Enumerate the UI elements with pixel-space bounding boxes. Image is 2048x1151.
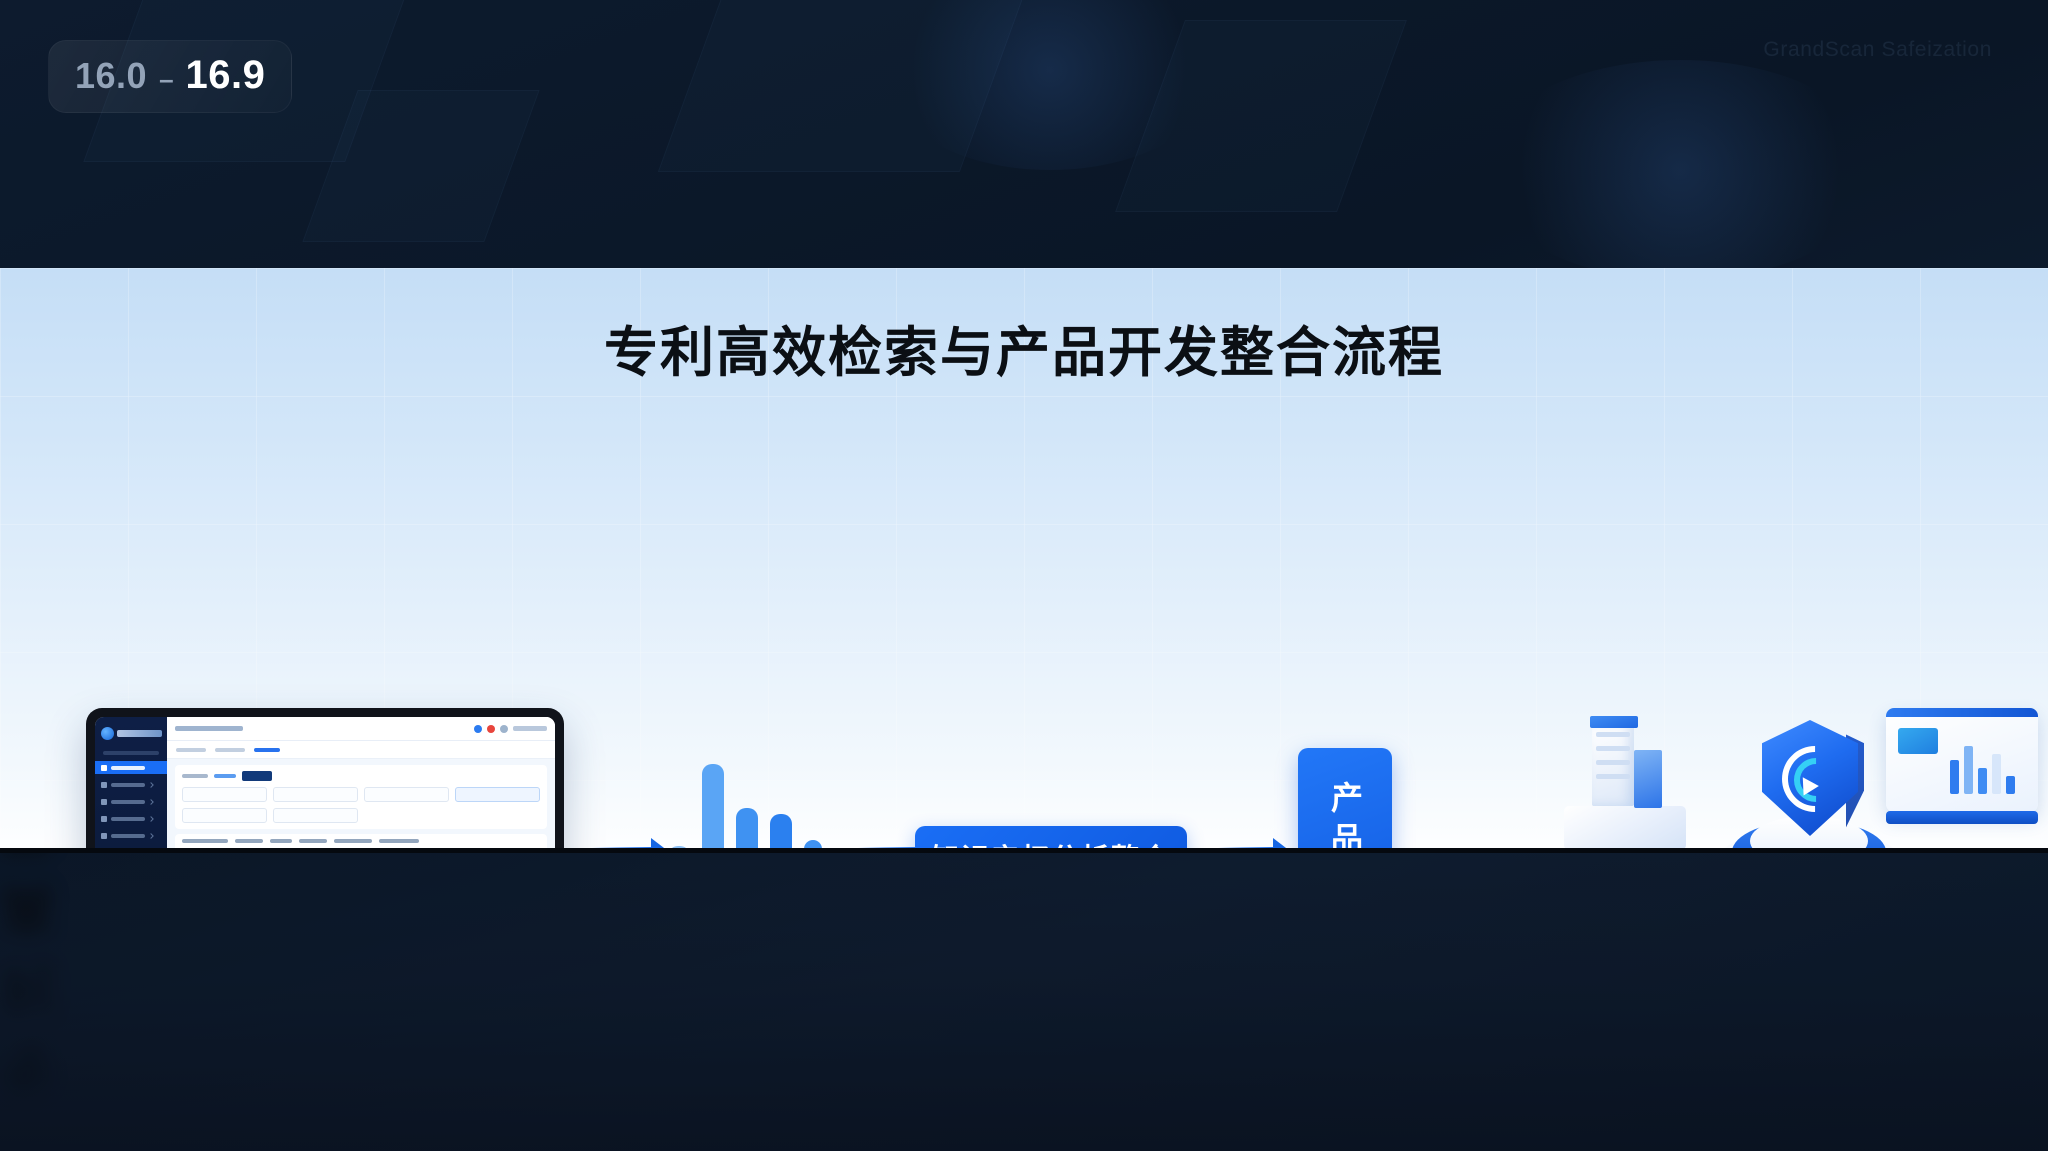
- column-header: [299, 839, 327, 843]
- chart-bar: [804, 840, 822, 848]
- reflection-gradient-veil: [0, 848, 2048, 1151]
- analysis-label: 知识产权分析整合: [931, 837, 1171, 848]
- filter-input[interactable]: [182, 808, 267, 823]
- arrow-head-icon: [651, 838, 668, 848]
- screen-bar: [1992, 754, 2001, 794]
- filter-group-label: [182, 774, 208, 778]
- avatar[interactable]: [500, 725, 508, 733]
- filter-link[interactable]: [214, 774, 236, 778]
- analytics-screen-icon: [1886, 708, 2038, 812]
- sidebar-item[interactable]: [95, 812, 167, 825]
- column-header: [334, 839, 372, 843]
- filter-input[interactable]: [364, 787, 449, 802]
- column-header: [379, 839, 419, 843]
- pedestal-building: [1564, 806, 1686, 848]
- dashboard-breadcrumb-tabs[interactable]: [167, 741, 555, 759]
- bar-chart: [668, 748, 838, 848]
- chevron-right-icon: [148, 816, 154, 822]
- tablet-screen: [95, 717, 555, 848]
- sidebar-item-label: [111, 766, 145, 770]
- column-header: [235, 839, 263, 843]
- column-header: [182, 839, 228, 843]
- panel-reflection: 专利高效检索与产品开发整合流程: [0, 848, 2048, 1151]
- filter-input[interactable]: [182, 787, 267, 802]
- dashboard-page-title: [175, 726, 243, 731]
- chevron-right-icon: [148, 782, 154, 788]
- version-new-label: 16.9: [186, 53, 266, 98]
- reflection-edge-line: [0, 848, 2048, 853]
- primary-action-button[interactable]: [242, 771, 272, 781]
- screen-card: [1898, 728, 1938, 754]
- product-development-box[interactable]: 产品开发: [1298, 748, 1392, 848]
- logo-wordmark: [117, 730, 162, 737]
- data-table: [175, 834, 547, 848]
- header-glow: [1480, 60, 1880, 280]
- flow-arrow-1: [592, 838, 668, 848]
- filter-input[interactable]: [273, 787, 358, 802]
- tablet-device-mockup: [86, 708, 564, 848]
- tab-active[interactable]: [254, 748, 280, 752]
- content-panel: 专利高效检索与产品开发整合流程: [0, 268, 2048, 848]
- search-button[interactable]: [455, 787, 540, 802]
- version-old-label: 16.0: [75, 55, 147, 97]
- pedestal-top: [1564, 806, 1686, 848]
- sidebar-item[interactable]: [95, 795, 167, 808]
- sidebar-item[interactable]: [95, 778, 167, 791]
- filter-fields-row: [182, 787, 540, 802]
- sidebar-section-label: [103, 751, 159, 755]
- sidebar-item-active[interactable]: [95, 761, 167, 774]
- version-badge: 16.0 – 16.9: [48, 40, 292, 113]
- chart-bar: [736, 808, 758, 848]
- sidebar-item-label: [111, 783, 145, 787]
- column-header: [270, 839, 292, 843]
- building-annex-icon: [1634, 750, 1662, 808]
- chart-bar: [770, 814, 792, 848]
- sidebar-item-icon: [101, 833, 107, 839]
- dashboard-logo: [95, 723, 167, 746]
- chart-bar: [702, 764, 724, 848]
- screen-bar: [2006, 776, 2015, 794]
- sidebar-item-icon: [101, 816, 107, 822]
- chevron-right-icon: [148, 799, 154, 805]
- dashboard-main: [167, 717, 555, 848]
- analysis-label-box[interactable]: 知识产权分析整合: [915, 826, 1187, 848]
- notification-icon[interactable]: [474, 725, 482, 733]
- sidebar-item[interactable]: [95, 829, 167, 842]
- filter-card: [175, 765, 547, 829]
- sidebar-item-icon: [101, 765, 107, 771]
- dashboard-topbar: [167, 717, 555, 741]
- dashboard-sidebar[interactable]: [95, 717, 167, 848]
- sidebar-item-label: [111, 834, 145, 838]
- table-header-row: [182, 839, 540, 848]
- product-development-label: 产品开发: [1329, 781, 1361, 848]
- alert-icon[interactable]: [487, 725, 495, 733]
- watermark-text: GrandScan Safeization: [1763, 38, 1992, 62]
- logo-mark-icon: [101, 727, 114, 740]
- dashboard-body: [167, 759, 555, 848]
- chevron-right-icon: [148, 833, 154, 839]
- breadcrumb-item[interactable]: [176, 748, 206, 752]
- breadcrumb-item[interactable]: [215, 748, 245, 752]
- screen-bar: [1964, 746, 1973, 794]
- screen-base: [1886, 811, 2038, 824]
- filter-toolbar: [182, 771, 540, 781]
- page-title: 专利高效检索与产品开发整合流程: [0, 308, 2048, 387]
- building-roof: [1590, 716, 1638, 728]
- date-range-input[interactable]: [273, 808, 358, 823]
- building-floor: [1596, 732, 1630, 737]
- filter-fields-row: [182, 808, 540, 823]
- screen-topbar: [1886, 708, 2038, 717]
- flow-arrow-3: [1218, 838, 1290, 848]
- sidebar-item-icon: [101, 799, 107, 805]
- sidebar-item-label: [111, 817, 145, 821]
- presentation-slide: 16.0 – 16.9 GrandScan Safeization 专利高效检索…: [0, 0, 2048, 1151]
- arrow-head-icon: [1273, 838, 1290, 848]
- screen-bar: [1950, 760, 1959, 794]
- building-floor: [1596, 774, 1630, 779]
- building-floor: [1596, 760, 1630, 765]
- sidebar-item-icon: [101, 782, 107, 788]
- screen-bar: [1978, 768, 1987, 794]
- user-name-label: [513, 726, 547, 731]
- sidebar-item-label: [111, 800, 145, 804]
- building-floor: [1596, 746, 1630, 751]
- version-dash: –: [159, 64, 173, 95]
- isometric-illustration: [1530, 688, 2048, 848]
